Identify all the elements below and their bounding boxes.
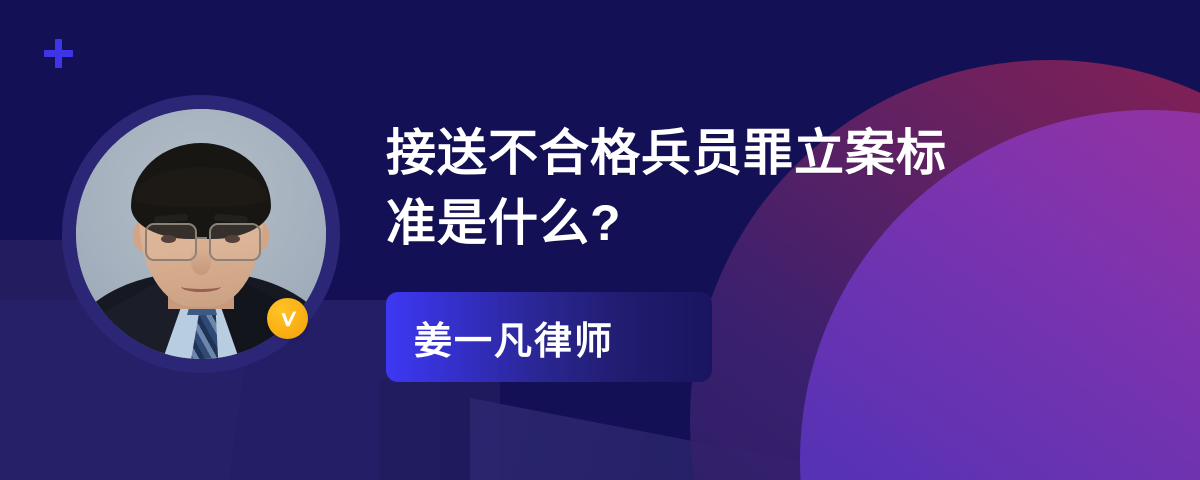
portrait-glasses-lens-left bbox=[145, 223, 197, 261]
lawyer-name-label: 姜一凡律师 bbox=[386, 310, 614, 365]
portrait-glasses-bridge bbox=[195, 237, 207, 239]
portrait-glasses-lens-right bbox=[209, 223, 261, 261]
avatar bbox=[62, 95, 340, 373]
portrait-mouth bbox=[181, 281, 221, 292]
plus-icon bbox=[44, 39, 73, 68]
headline-block: 接送不合格兵员罪立案标 准是什么? bbox=[386, 118, 1146, 258]
lawyer-name-badge[interactable]: 姜一凡律师 bbox=[386, 292, 712, 382]
lawyer-qa-banner: 接送不合格兵员罪立案标 准是什么? 姜一凡律师 bbox=[0, 0, 1200, 480]
verified-badge-icon bbox=[267, 298, 308, 339]
page-title: 接送不合格兵员罪立案标 准是什么? bbox=[386, 118, 1146, 258]
portrait-nose bbox=[191, 249, 211, 275]
